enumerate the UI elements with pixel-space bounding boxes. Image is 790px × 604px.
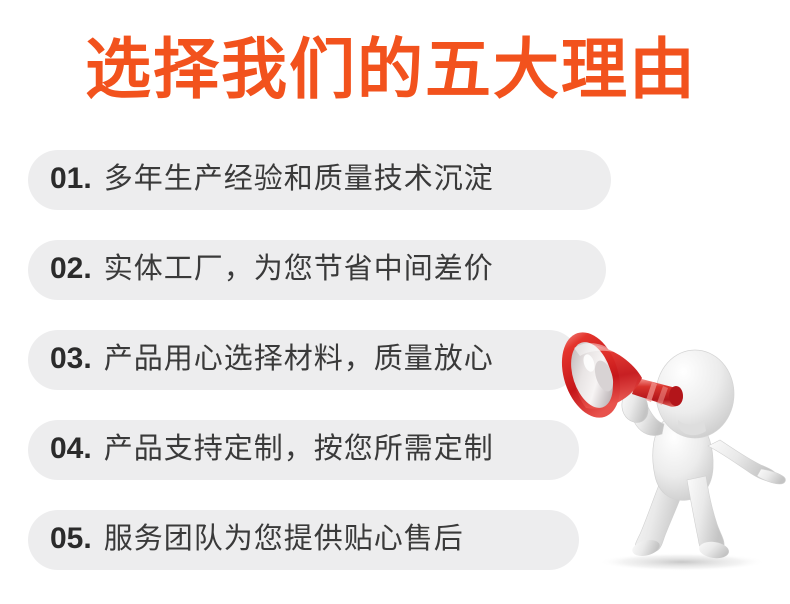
list-item: 04. 产品支持定制，按您所需定制 bbox=[28, 420, 579, 480]
figure-front-foot bbox=[698, 540, 730, 560]
figure-right-hand bbox=[757, 469, 785, 484]
reason-number: 03. bbox=[50, 344, 92, 374]
page-title: 选择我们的五大理由 bbox=[0, 32, 790, 106]
reason-text: 产品用心选择材料，质量放心 bbox=[104, 345, 494, 374]
megaphone-band bbox=[646, 382, 657, 402]
reason-list: 01. 多年生产经验和质量技术沉淀 02. 实体工厂，为您节省中间差价 03. … bbox=[28, 150, 628, 570]
reason-text: 实体工厂，为您节省中间差价 bbox=[104, 255, 494, 284]
reason-text: 服务团队为您提供贴心售后 bbox=[104, 525, 464, 554]
figure-front-leg bbox=[687, 476, 724, 553]
figure-torso bbox=[653, 416, 713, 501]
megaphone-barrel bbox=[632, 378, 683, 407]
list-item: 03. 产品用心选择材料，质量放心 bbox=[28, 330, 579, 390]
reason-number: 02. bbox=[50, 254, 92, 284]
figure-neck bbox=[678, 420, 706, 435]
reason-number: 04. bbox=[50, 434, 92, 464]
list-item: 01. 多年生产经验和质量技术沉淀 bbox=[28, 150, 611, 210]
figure-right-arm bbox=[708, 440, 777, 481]
megaphone-end-cap bbox=[669, 386, 683, 406]
list-item: 05. 服务团队为您提供贴心售后 bbox=[28, 510, 579, 570]
figure-back-leg bbox=[635, 468, 687, 553]
list-item: 02. 实体工厂，为您节省中间差价 bbox=[28, 240, 606, 300]
figure-head bbox=[656, 350, 734, 438]
megaphone-band bbox=[657, 386, 668, 405]
reason-number: 01. bbox=[50, 164, 92, 194]
figure-back-foot bbox=[631, 537, 662, 558]
reason-number: 05. bbox=[50, 524, 92, 554]
reason-text: 多年生产经验和质量技术沉淀 bbox=[104, 165, 494, 194]
reasons-poster: 选择我们的五大理由 01. 多年生产经验和质量技术沉淀 02. 实体工厂，为您节… bbox=[0, 0, 790, 604]
figure-left-arm bbox=[631, 400, 664, 435]
reason-text: 产品支持定制，按您所需定制 bbox=[104, 435, 494, 464]
